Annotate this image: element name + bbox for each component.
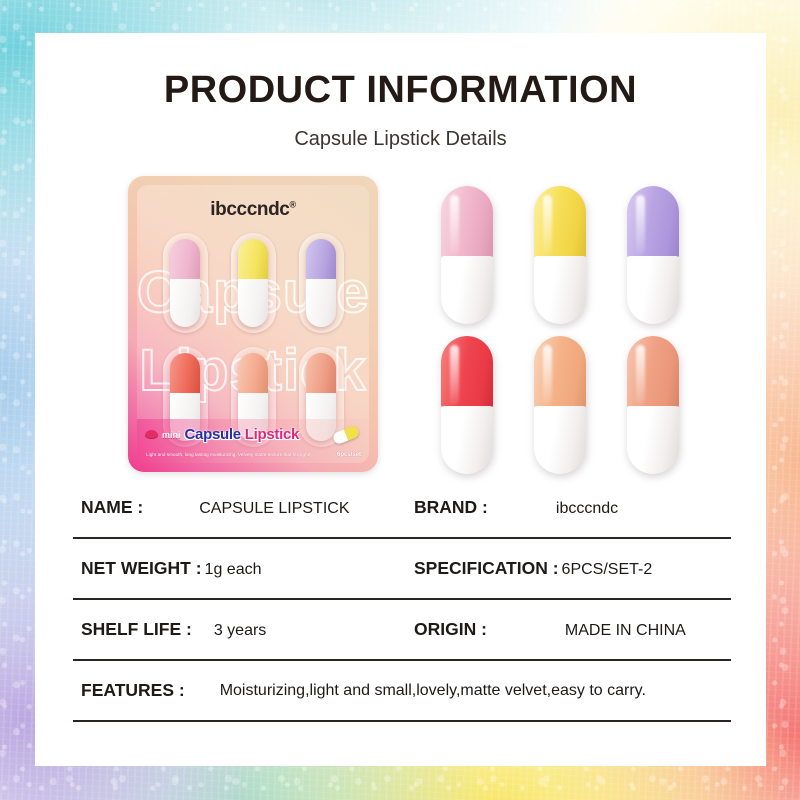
pack-capsule-yellow [238,239,268,327]
spec-cell-origin: ORIGIN : MADE IN CHINA [402,619,731,640]
capsule-top-half [441,336,493,408]
capsule-icon [332,425,361,446]
capsule-top-half [441,186,493,258]
capsule-top-half [306,239,336,279]
spec-label-shelf-life: SHELF LIFE : [81,619,192,640]
capsule-swatch-red [441,336,493,474]
capsule-swatch-yellow [534,186,586,324]
pack-quantity-label: 6pcs/set [337,452,361,458]
page-title: PRODUCT INFORMATION [35,69,766,112]
lips-icon [145,430,158,439]
capsule-top-half [627,336,679,408]
capsule-gloss-highlight [636,345,645,405]
product-image-area: ibcccndc® Capsule Lipstick [35,176,766,481]
capsule-gloss-highlight [543,345,552,405]
capsule-bottom-half [534,406,586,474]
blister-pack-image: ibcccndc® Capsule Lipstick [128,176,378,472]
capsule-gloss-highlight-lower [543,268,551,314]
capsule-swatch-purple [627,186,679,324]
capsule-swatch-pink [441,186,493,324]
capsule-top-half [238,353,268,393]
product-information-page: PRODUCT INFORMATION Capsule Lipstick Det… [0,0,800,800]
capsule-swatch-grid [420,180,700,480]
capsule-well [231,233,276,333]
specification-table: NAME : CAPSULE LIPSTICK BRAND : ibcccndc… [73,478,731,722]
capsule-gloss-highlight [450,345,459,405]
capsule-swatch-light-peach [534,336,586,474]
capsule-bottom-half [238,279,268,327]
capsule-bottom-half [441,406,493,474]
capsule-top-half [534,186,586,258]
spec-value-brand: ibcccndc [556,500,618,518]
pack-capsule-pink [170,239,200,327]
spec-value-features: Moisturizing,light and small,lovely,matt… [220,682,646,700]
page-subtitle: Capsule Lipstick Details [35,128,766,151]
capsule-swatch-salmon [627,336,679,474]
table-row: NAME : CAPSULE LIPSTICK BRAND : ibcccndc [73,478,731,539]
content-card: PRODUCT INFORMATION Capsule Lipstick Det… [35,33,766,766]
capsule-gloss-highlight [543,195,552,255]
capsule-bottom-half [534,256,586,324]
banner-mini-label: mini [162,430,181,440]
pack-fine-print: Light and smooth, long lasting moisturiz… [146,452,311,457]
capsule-gloss-highlight-lower [636,418,644,464]
banner-word-lipstick: Lipstick [245,426,299,443]
spec-label-net-weight: NET WEIGHT : [81,558,202,579]
banner-word-capsule: Capsule [185,426,241,443]
spec-label-specification: SPECIFICATION : [414,558,559,579]
spec-cell-shelf-life: SHELF LIFE : 3 years [73,619,402,640]
pack-capsule-purple [306,239,336,327]
capsule-top-half [170,239,200,279]
capsule-bottom-half [441,256,493,324]
spec-label-name: NAME : [81,497,143,518]
spec-cell-specification: SPECIFICATION : 6PCS/SET-2 [402,558,731,579]
capsule-bottom-half [627,406,679,474]
spec-value-name: CAPSULE LIPSTICK [199,500,349,518]
spec-value-specification: 6PCS/SET-2 [562,561,653,579]
capsule-bottom-half [306,279,336,327]
spec-cell-brand: BRAND : ibcccndc [402,497,731,518]
capsule-well [163,233,208,333]
capsule-gloss-highlight-lower [636,268,644,314]
capsule-bottom-half [170,279,200,327]
capsule-top-half [238,239,268,279]
spec-value-origin: MADE IN CHINA [565,622,686,640]
table-row-features: FEATURES : Moisturizing,light and small,… [73,661,731,722]
capsule-gloss-highlight [636,195,645,255]
pack-bottom-banner: mini Capsule Lipstick Light and smooth, … [137,419,369,463]
capsule-gloss-highlight [450,195,459,255]
capsule-top-half [306,353,336,393]
capsule-top-half [170,353,200,393]
blister-pack-inner: ibcccndc® Capsule Lipstick [137,185,369,463]
registered-mark-icon: ® [289,200,295,210]
spec-cell-name: NAME : CAPSULE LIPSTICK [73,497,402,518]
table-row: SHELF LIFE : 3 years ORIGIN : MADE IN CH… [73,600,731,661]
capsule-bottom-half [627,256,679,324]
capsule-top-half [627,186,679,258]
header: PRODUCT INFORMATION Capsule Lipstick Det… [35,33,766,151]
pack-brand-text: ibcccndc [210,199,289,220]
capsule-gloss-highlight-lower [450,268,458,314]
spec-value-net-weight: 1g each [205,561,262,579]
capsule-gloss-highlight-lower [543,418,551,464]
banner-text-row: mini Capsule Lipstick [145,426,299,443]
spec-label-origin: ORIGIN : [414,619,487,640]
spec-cell-net-weight: NET WEIGHT : 1g each [73,558,402,579]
spec-value-shelf-life: 3 years [214,622,266,640]
capsule-gloss-highlight-lower [450,418,458,464]
pack-brand-logo: ibcccndc® [137,199,369,221]
table-row: NET WEIGHT : 1g each SPECIFICATION : 6PC… [73,539,731,600]
spec-label-brand: BRAND : [414,497,488,518]
capsule-top-half [534,336,586,408]
spec-label-features: FEATURES : [81,680,185,701]
capsule-well [299,233,344,333]
